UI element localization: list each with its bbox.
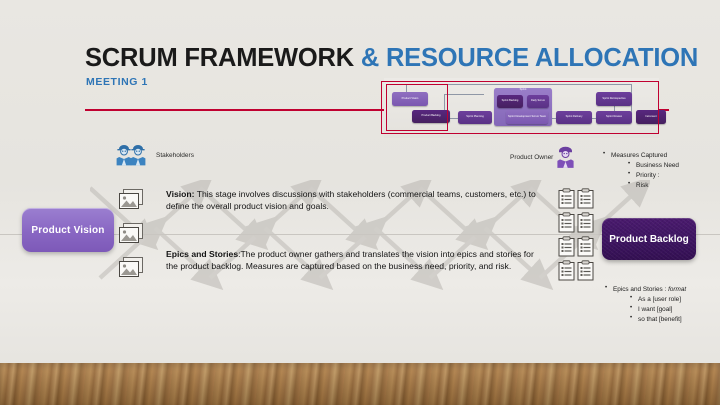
measures-title: Measures Captured bbox=[611, 152, 667, 159]
list-item: As a [user role] bbox=[629, 295, 686, 305]
list-item: so that [benefit] bbox=[629, 315, 686, 325]
title-accent: & RESOURCE ALLOCATION bbox=[361, 44, 698, 72]
backlog-clipboard-stack bbox=[558, 188, 594, 281]
list-item: Priority : bbox=[627, 171, 679, 181]
wood-floor-image bbox=[0, 363, 720, 405]
page-subtitle: MEETING 1 bbox=[86, 76, 148, 88]
list-item: Epics and Stories : format As a [user ro… bbox=[604, 285, 686, 325]
epics-format-title: Epics and Stories : bbox=[613, 286, 668, 293]
epics-heading: Epics and Stories bbox=[166, 249, 238, 259]
page-title: SCRUM FRAMEWORK & RESOURCE ALLOCATION bbox=[85, 44, 698, 73]
product-vision-box[interactable]: Product Vision bbox=[22, 208, 114, 252]
clipboard-icon bbox=[558, 236, 575, 257]
product-backlog-box[interactable]: Product Backlog bbox=[602, 218, 696, 260]
product-vision-label: Product Vision bbox=[31, 225, 104, 236]
product-owner-group: Product Owner bbox=[510, 146, 574, 168]
picture-icon bbox=[118, 256, 144, 278]
diagram-highlight-box-focus bbox=[386, 84, 448, 131]
list-item: Measures Captured Business Need Priority… bbox=[602, 151, 679, 191]
epics-format-title-italic: format bbox=[668, 286, 686, 293]
vision-paragraph: Vision: This stage involves discussions … bbox=[166, 188, 548, 212]
picture-icon bbox=[118, 222, 144, 244]
clipboard-icon bbox=[577, 260, 594, 281]
picture-icon bbox=[118, 188, 144, 210]
slide-canvas: SCRUM FRAMEWORK & RESOURCE ALLOCATION ME… bbox=[0, 0, 720, 405]
product-owner-icon bbox=[557, 146, 574, 168]
stakeholders-group: Stakeholders bbox=[116, 144, 194, 166]
vision-text: This stage involves discussions with sta… bbox=[166, 189, 536, 211]
stakeholders-label: Stakeholders bbox=[156, 152, 194, 159]
stakeholders-icon bbox=[116, 144, 150, 166]
vision-heading: Vision: bbox=[166, 189, 195, 199]
title-divider-line bbox=[85, 109, 385, 111]
clipboard-icon bbox=[577, 212, 594, 233]
list-item: Risk bbox=[627, 181, 679, 191]
title-main: SCRUM FRAMEWORK bbox=[85, 44, 361, 72]
clipboard-icon bbox=[558, 260, 575, 281]
clipboard-icon bbox=[558, 212, 575, 233]
vision-image-stack bbox=[118, 188, 144, 278]
clipboard-icon bbox=[577, 188, 594, 209]
list-item: I want [goal] bbox=[629, 305, 686, 315]
product-owner-label: Product Owner bbox=[510, 154, 553, 161]
clipboard-icon bbox=[558, 188, 575, 209]
product-backlog-label: Product Backlog bbox=[609, 234, 688, 245]
clipboard-icon bbox=[577, 236, 594, 257]
epics-format-list: Epics and Stories : format As a [user ro… bbox=[604, 285, 686, 325]
list-item: Business Need bbox=[627, 161, 679, 171]
measures-captured-list: Measures Captured Business Need Priority… bbox=[602, 151, 679, 191]
epics-paragraph: Epics and Stories:The product owner gath… bbox=[166, 248, 548, 272]
